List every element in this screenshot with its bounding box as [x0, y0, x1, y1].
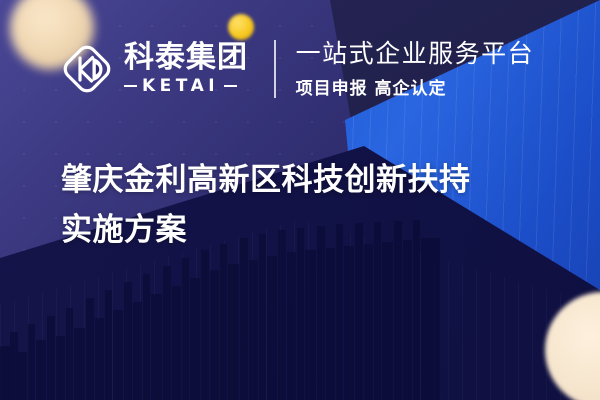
banner-header: 科泰集团 KETAI 一站式企业服务平台 项目申报 高企认定 — [58, 40, 534, 99]
brand-name-en: KETAI — [142, 76, 219, 96]
brand-name-en-row: KETAI — [124, 76, 248, 96]
brand-name-cn: 科泰集团 — [124, 43, 248, 74]
company-logo: 科泰集团 KETAI — [58, 40, 248, 98]
slogan-sub-text: 项目申报 高企认定 — [296, 74, 535, 99]
dash-right-icon — [224, 85, 237, 88]
promo-banner: 科泰集团 KETAI 一站式企业服务平台 项目申报 高企认定 肇庆金利高新区科技… — [0, 0, 600, 400]
slogan-block: 一站式企业服务平台 项目申报 高企认定 — [296, 40, 535, 99]
vertical-divider-icon — [274, 40, 276, 98]
dash-left-icon — [124, 85, 137, 88]
page-title: 肇庆金利高新区科技创新扶持实施方案 — [61, 155, 479, 255]
slogan-main-text: 一站式企业服务平台 — [296, 40, 535, 69]
ketai-diamond-kd-monogram-icon — [58, 40, 116, 98]
logo-wordmark: 科泰集团 KETAI — [124, 43, 248, 97]
gold-dot-circle — [228, 14, 254, 40]
